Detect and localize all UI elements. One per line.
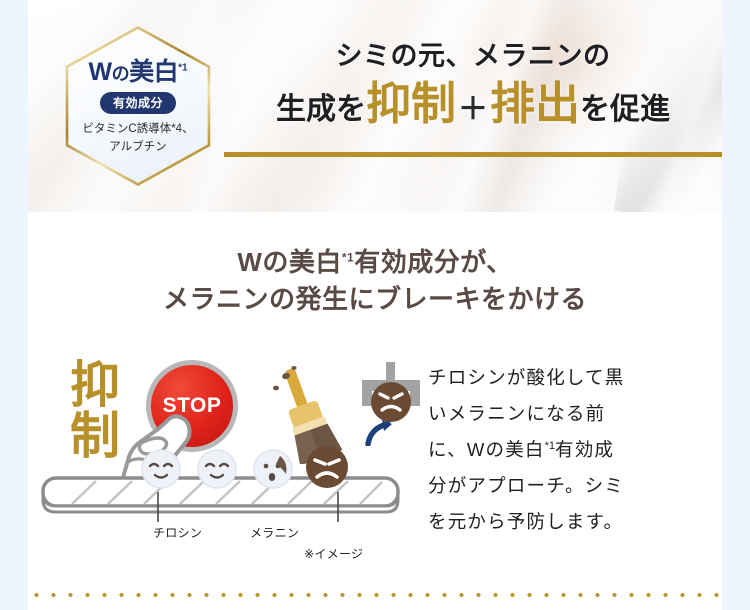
melanin-face-icon [304,444,350,495]
section-heading-line1-pre: Wの美白 [237,247,342,277]
label-melanin: メラニン [250,524,299,541]
dotted-divider [28,592,722,598]
badge-ingredient-2: アルブチン [109,141,166,153]
body-line-3-post: 有効成 [555,439,614,460]
body-line-4: 分がアプローチ。シミ [428,468,698,504]
badge-title-rest: 美白 [129,58,178,86]
page-root: Wの美白*1 有効成分 ビタミンC誘導体*4、 アルブチン シミの元、メラニンの… [0,0,750,610]
vertical-label-char-1: 抑 [64,360,126,411]
tyrosine-face-icon [196,448,238,495]
hero-banner: Wの美白*1 有効成分 ビタミンC誘導体*4、 アルブチン シミの元、メラニンの… [28,0,722,212]
label-tyrosine: チロシン [153,524,202,541]
section-heading: Wの美白*1有効成分が、 メラニンの発生にブレーキをかける [28,244,722,318]
conveyor-belt-icon [38,470,438,522]
ingredient-badge: Wの美白*1 有効成分 ビタミンC誘導体*4、 アルブチン [54,26,222,186]
body-line-3: に、Wの美白*1有効成 [428,432,698,468]
badge-ingredient-1: ビタミンC誘導体*4、 [82,123,193,135]
hero-headline-post: を促進 [580,93,670,126]
badge-content: Wの美白*1 有効成分 ビタミンC誘導体*4、 アルブチン [54,26,222,186]
hero-headline-line1: シミの元、メラニンの [224,40,722,72]
badge-pill-label: 有効成分 [100,92,176,114]
section-heading-line2: メラニンの発生にブレーキをかける [163,284,587,314]
hero-headline: シミの元、メラニンの 生成を抑制＋排出を促進 [224,40,722,129]
content-column: Wの美白*1 有効成分 ビタミンC誘導体*4、 アルブチン シミの元、メラニンの… [28,0,722,610]
tyrosine-face-icon [252,448,294,495]
hero-headline-line2: 生成を抑制＋排出を促進 [224,81,722,128]
body-paragraph: チロシンが酸化して黒 いメラニンになる前 に、Wの美白*1有効成 分がアプローチ… [428,360,698,540]
hero-headline-gold-expel: 排出 [490,79,580,129]
body-line-5: を元から予防します。 [428,504,698,540]
badge-title: Wの美白*1 [88,60,187,85]
body-line-1: チロシンが酸化して黒 [428,360,698,396]
vertical-suppress-label: 抑 制 [64,360,126,462]
frame-bracket-icon [358,362,424,432]
tyrosine-face-icon [140,448,182,495]
badge-title-no: の [112,64,130,84]
body-line-3-pre: に、Wの美白 [428,439,545,460]
vertical-label-char-2: 制 [64,411,126,462]
hero-headline-pre: 生成を [276,93,366,126]
section-heading-footnote: *1 [342,250,354,264]
section-heading-line1-post: 有効成分が、 [354,247,512,277]
badge-title-w: W [88,58,111,86]
label-image-note: ※イメージ [304,545,363,562]
body-line-3-footnote: *1 [545,440,555,452]
hero-headline-gold-suppress: 抑制 [366,79,456,129]
badge-title-footnote: *1 [178,63,187,74]
melanin-face-framed [371,382,411,422]
hero-headline-plus: ＋ [456,93,490,126]
body-line-2: いメラニンになる前 [428,396,698,432]
badge-ingredients: ビタミンC誘導体*4、 アルブチン [82,121,193,156]
hero-gold-rule [224,152,722,157]
